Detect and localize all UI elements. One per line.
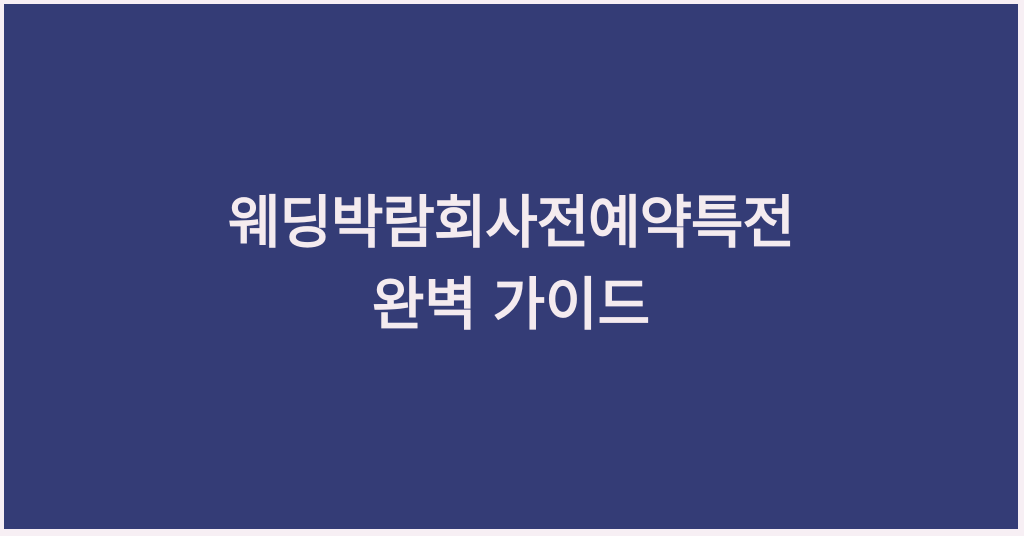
headline-line-2: 완벽 가이드: [28, 264, 994, 346]
headline-line-1: 웨딩박람회사전예약특전: [28, 182, 994, 264]
headline-block: 웨딩박람회사전예약특전 완벽 가이드: [4, 182, 1018, 346]
banner-stage: 웨딩박람회사전예약특전 완벽 가이드: [0, 0, 1024, 536]
banner-card: 웨딩박람회사전예약특전 완벽 가이드: [4, 4, 1018, 529]
